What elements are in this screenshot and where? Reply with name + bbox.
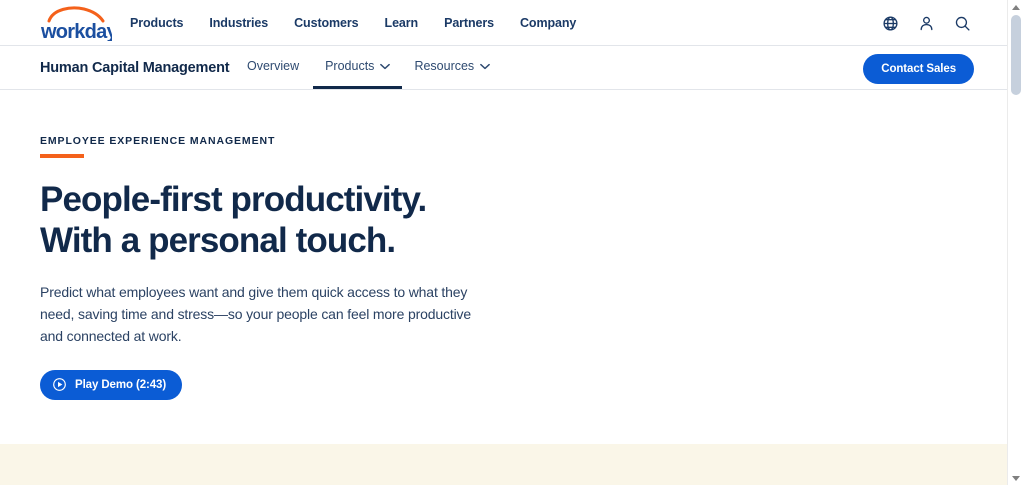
subnav-item-overview-label: Overview xyxy=(247,59,299,73)
subnav-item-resources[interactable]: Resources xyxy=(402,46,502,89)
headline-line-1: People-first productivity. xyxy=(40,180,600,221)
workday-logo[interactable]: workday xyxy=(38,3,112,41)
product-subnav: Human Capital Management Overview Produc… xyxy=(0,46,1007,90)
nav-item-learn[interactable]: Learn xyxy=(385,16,419,30)
primary-nav: Products Industries Customers Learn Part… xyxy=(130,0,576,46)
hero-description: Predict what employees want and give the… xyxy=(40,281,495,347)
play-demo-label: Play Demo (2:43) xyxy=(75,379,166,391)
headline-line-2: With a personal touch. xyxy=(40,221,600,262)
nav-item-partners[interactable]: Partners xyxy=(444,16,494,30)
hero-eyebrow: Employee Experience Management xyxy=(40,135,1007,147)
browser-page: workday Products Industries Customers Le… xyxy=(0,0,1024,485)
globe-icon[interactable] xyxy=(882,15,899,32)
hero-section: Employee Experience Management People-fi… xyxy=(0,90,1007,444)
hero-eyebrow-rule xyxy=(40,154,84,158)
chevron-down-icon xyxy=(380,59,390,73)
scroll-down-arrow-icon[interactable] xyxy=(1008,471,1024,485)
subnav-item-resources-label: Resources xyxy=(414,59,474,73)
page-title: People-first productivity. With a person… xyxy=(40,180,600,261)
account-icon[interactable] xyxy=(918,15,935,32)
subnav-links: Overview Products Resources xyxy=(247,46,502,89)
nav-item-products[interactable]: Products xyxy=(130,16,183,30)
subnav-title: Human Capital Management xyxy=(40,46,229,89)
global-header: workday Products Industries Customers Le… xyxy=(0,0,1007,46)
subnav-item-overview[interactable]: Overview xyxy=(247,46,313,89)
page-scrollbar[interactable] xyxy=(1007,0,1024,485)
scrollbar-thumb[interactable] xyxy=(1011,15,1021,95)
header-utility-icons xyxy=(882,0,971,46)
search-icon[interactable] xyxy=(954,15,971,32)
svg-text:workday: workday xyxy=(40,21,112,41)
next-section-band xyxy=(0,444,1007,485)
subnav-item-products-label: Products xyxy=(325,59,374,73)
nav-item-customers[interactable]: Customers xyxy=(294,16,358,30)
play-demo-button[interactable]: Play Demo (2:43) xyxy=(40,370,182,400)
page-viewport: workday Products Industries Customers Le… xyxy=(0,0,1007,485)
play-circle-icon xyxy=(52,377,67,392)
scroll-up-arrow-icon[interactable] xyxy=(1008,0,1024,14)
subnav-item-products[interactable]: Products xyxy=(313,46,402,89)
nav-item-company[interactable]: Company xyxy=(520,16,576,30)
chevron-down-icon xyxy=(480,59,490,73)
nav-item-industries[interactable]: Industries xyxy=(209,16,268,30)
contact-sales-button[interactable]: Contact Sales xyxy=(863,54,974,84)
